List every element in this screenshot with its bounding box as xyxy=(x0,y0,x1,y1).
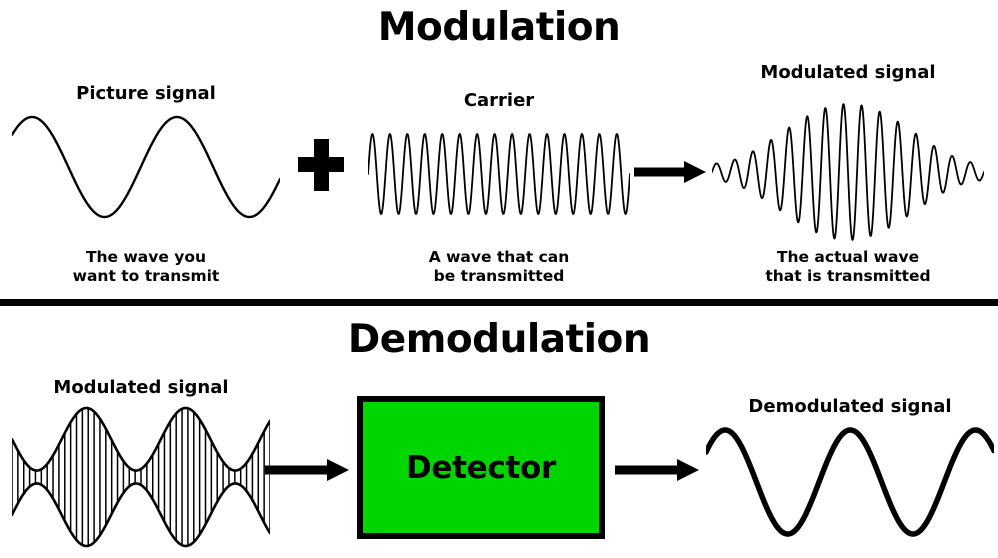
caption-picture-signal: The wave you want to transmit xyxy=(12,248,280,287)
waveform-carrier xyxy=(368,128,630,220)
label-carrier: Carrier xyxy=(368,92,630,111)
waveform-demodulated-signal xyxy=(706,420,994,544)
detector-block-label: Detector xyxy=(406,450,556,486)
arrow-right-icon-modulation xyxy=(634,158,706,186)
plus-vertical-bar xyxy=(314,139,329,191)
detector-block[interactable]: Detector xyxy=(357,396,605,539)
section-divider xyxy=(0,299,998,306)
section-title-modulation: Modulation xyxy=(0,8,998,47)
label-modulated-signal: Modulated signal xyxy=(712,64,984,83)
label-modulated-signal-input: Modulated signal xyxy=(12,379,270,398)
waveform-modulated-signal-input xyxy=(12,404,270,550)
label-picture-signal: Picture signal xyxy=(12,85,280,104)
arrow-right-icon-detector-output xyxy=(615,456,699,484)
waveform-modulated-signal xyxy=(712,98,984,246)
waveform-picture-signal xyxy=(12,112,280,222)
arrow-right-icon-detector-input xyxy=(265,456,349,484)
caption-carrier: A wave that can be transmitted xyxy=(368,248,630,287)
label-demodulated-signal: Demodulated signal xyxy=(706,398,994,417)
caption-modulated-signal: The actual wave that is transmitted xyxy=(712,248,984,287)
section-title-demodulation: Demodulation xyxy=(0,320,998,359)
diagram-canvas: Modulation Picture signal The wave you w… xyxy=(0,0,998,558)
plus-operator-icon xyxy=(298,139,344,191)
